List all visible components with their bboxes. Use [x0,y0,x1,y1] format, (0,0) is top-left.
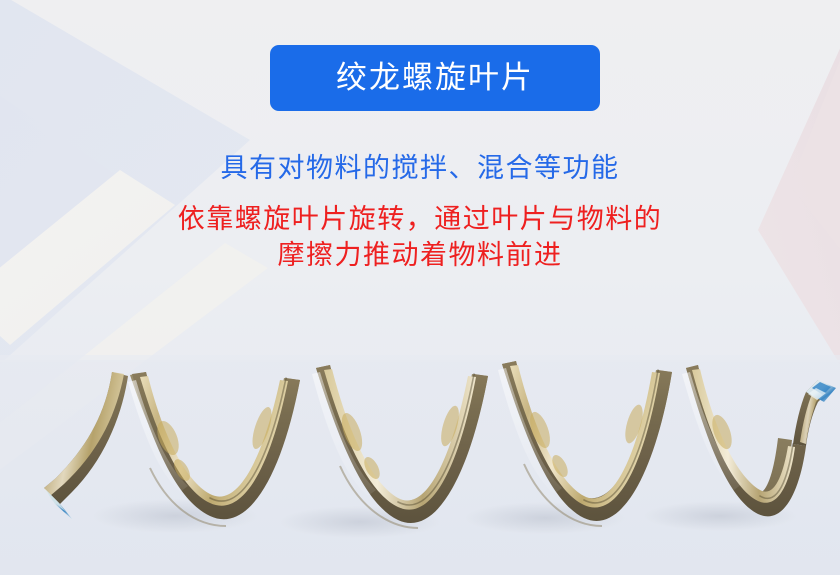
title-badge-label: 绞龙螺旋叶片 [336,62,534,93]
tagline-group: 具有对物料的搅拌、混合等功能 依靠螺旋叶片旋转，通过叶片与物料的 摩擦力推动着物… [0,155,840,278]
tagline-line-2: 依靠螺旋叶片旋转，通过叶片与物料的 [0,206,840,233]
spiral-blade-illustration [0,320,840,575]
tagline-line-1: 具有对物料的搅拌、混合等功能 [0,155,840,182]
tagline-line-3: 摩擦力推动着物料前进 [0,242,840,269]
product-photo-spiral-blade [0,320,840,575]
promo-banner: 绞龙螺旋叶片 具有对物料的搅拌、混合等功能 依靠螺旋叶片旋转，通过叶片与物料的 … [0,0,840,575]
title-badge: 绞龙螺旋叶片 [270,45,600,111]
